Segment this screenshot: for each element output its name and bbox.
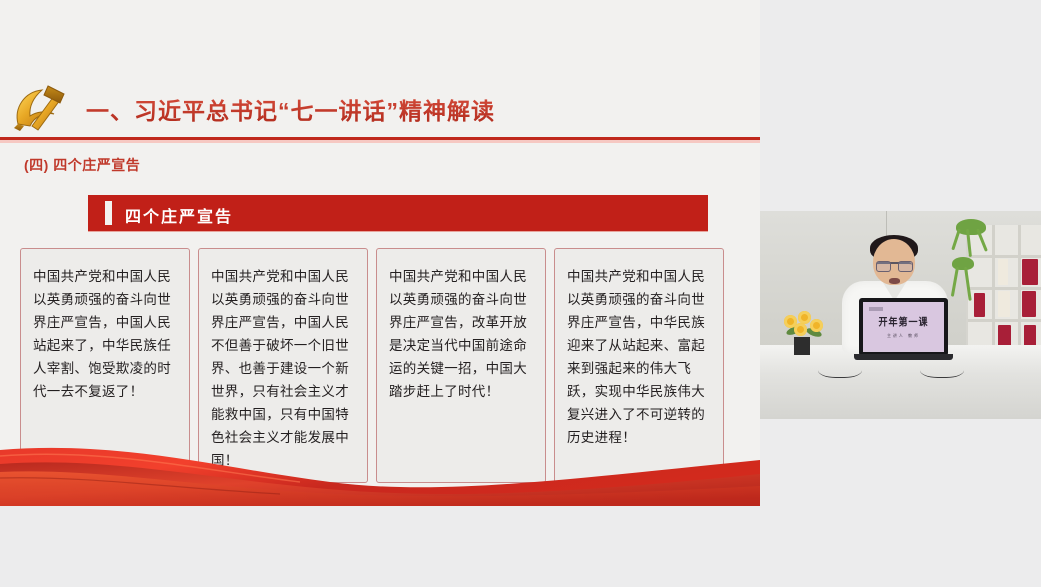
section-banner: 四个庄严宣告	[88, 195, 708, 231]
section-label: (四) 四个庄严宣告	[24, 155, 140, 175]
sunflower	[794, 323, 807, 336]
declaration-text: 中国共产党和中国人民以英勇顽强的奋斗向世界庄严宣告，中国人民站起来了，中华民族任…	[33, 265, 179, 403]
slide-logo-icon	[869, 307, 883, 311]
instructor-video-feed[interactable]: 开年第一课 主讲人 教师	[760, 211, 1041, 419]
slide-header: 一、习近平总书记“七一讲话”精神解读	[0, 72, 760, 140]
party-emblem-hammer-sickle-icon	[8, 76, 70, 136]
laptop-screen-title: 开年第一课	[878, 314, 928, 329]
laptop: 开年第一课 主讲人 教师	[859, 298, 948, 356]
red-silk-wave-svg	[0, 438, 760, 506]
declaration-text: 中国共产党和中国人民以英勇顽强的奋斗向世界庄严宣告，改革开放是决定当代中国前途命…	[389, 265, 535, 403]
hanging-plant	[956, 219, 986, 235]
page-title: 一、习近平总书记“七一讲话”精神解读	[86, 92, 495, 126]
glasses-lens-right	[898, 261, 913, 272]
presenter-mouth	[889, 278, 900, 284]
flower-vase	[794, 337, 810, 355]
bookshelf	[966, 225, 1041, 353]
banner-accent-bar	[105, 201, 112, 225]
banner-title: 四个庄严宣告	[125, 203, 233, 227]
glasses-lens-left	[876, 261, 891, 272]
declaration-text: 中国共产党和中国人民以英勇顽强的奋斗向世界庄严宣告，中华民族迎来了从站起来、富起…	[567, 265, 713, 449]
title-divider-soft	[0, 140, 760, 143]
presentation-slide: 一、习近平总书记“七一讲话”精神解读 (四) 四个庄严宣告 四个庄严宣告 中国共…	[0, 0, 760, 506]
laptop-screen-subtitle: 主讲人 教师	[887, 333, 920, 339]
sunflower	[810, 319, 823, 332]
red-silk-wave-decoration	[0, 438, 760, 506]
desk-cable	[818, 359, 862, 378]
laptop-screen: 开年第一课 主讲人 教师	[863, 302, 944, 352]
desk-cable	[920, 359, 964, 378]
